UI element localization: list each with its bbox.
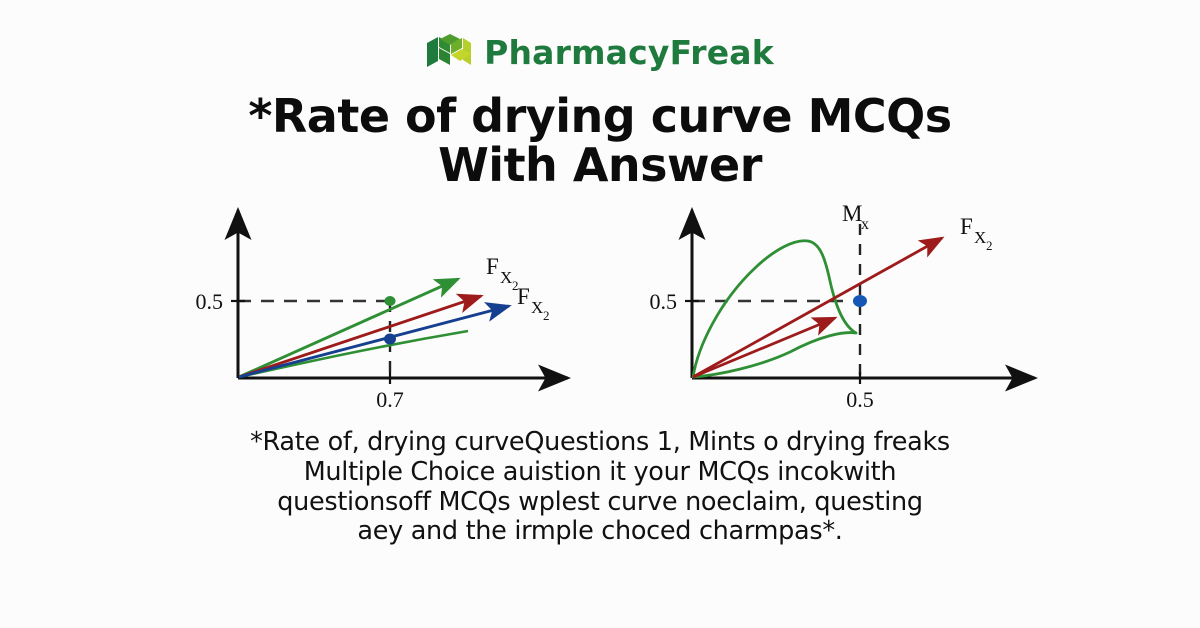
red-arrow bbox=[239, 296, 481, 377]
figures-container: 0.5 0.7 F X 2 F X 2 bbox=[0, 196, 1200, 424]
blue-intersection-point bbox=[853, 295, 867, 307]
green-point bbox=[385, 296, 396, 306]
blue-point bbox=[384, 334, 396, 345]
f-x2-label-red-sub: X bbox=[500, 268, 512, 287]
title-line-1: *Rate of drying curve MCQs bbox=[0, 92, 1200, 141]
f-x2-label-blue-subsub: 2 bbox=[543, 308, 550, 323]
caption-block: *Rate of, drying curveQuestions 1, Mints… bbox=[0, 428, 1200, 547]
green-loop-curve bbox=[693, 241, 856, 377]
f-x2-label-red: F X 2 bbox=[486, 254, 519, 293]
x-tick-label-0-7: 0.7 bbox=[376, 387, 404, 412]
f-x2-label-red: F X 2 bbox=[960, 214, 993, 253]
page-title: *Rate of drying curve MCQs With Answer bbox=[0, 92, 1200, 190]
f-x2-label-blue-sub: X bbox=[531, 298, 543, 317]
f-x2-label-blue: F X 2 bbox=[517, 284, 550, 323]
brand-header: PharmacyFreak bbox=[0, 32, 1200, 72]
left-chart: 0.5 0.7 F X 2 F X 2 bbox=[168, 196, 588, 416]
f-x2-label-red-sub: X bbox=[974, 228, 986, 247]
logo-svg bbox=[426, 32, 472, 72]
y-tick-label-0-5: 0.5 bbox=[196, 289, 224, 314]
f-x2-label-red-base: F bbox=[486, 254, 499, 279]
red-arrow-long bbox=[693, 238, 942, 377]
red-arrow-short bbox=[693, 318, 835, 377]
f-x2-label-blue-base: F bbox=[517, 284, 530, 309]
mx-label: M x bbox=[842, 201, 869, 233]
y-tick-label-0-5: 0.5 bbox=[650, 289, 678, 314]
caption-line-4: aey and the irmple choced charmpas*. bbox=[0, 517, 1200, 547]
caption-line-2: Multiple Choice auistion it your MCQs in… bbox=[0, 458, 1200, 488]
caption-line-3: questionsoff MCQs wplest curve noeclaim,… bbox=[0, 488, 1200, 518]
right-chart: 0.5 0.5 M x F X 2 bbox=[620, 196, 1050, 416]
title-line-2: With Answer bbox=[0, 141, 1200, 190]
x-tick-label-0-5: 0.5 bbox=[846, 387, 874, 412]
caption-line-1: *Rate of, drying curveQuestions 1, Mints… bbox=[0, 428, 1200, 458]
f-x2-label-red-base: F bbox=[960, 214, 973, 239]
mx-label-base: M bbox=[842, 201, 862, 226]
green-box-logo-icon bbox=[426, 32, 472, 72]
mx-label-sub: x bbox=[861, 216, 869, 233]
f-x2-label-red-subsub: 2 bbox=[986, 238, 993, 253]
brand-name: PharmacyFreak bbox=[484, 36, 774, 69]
